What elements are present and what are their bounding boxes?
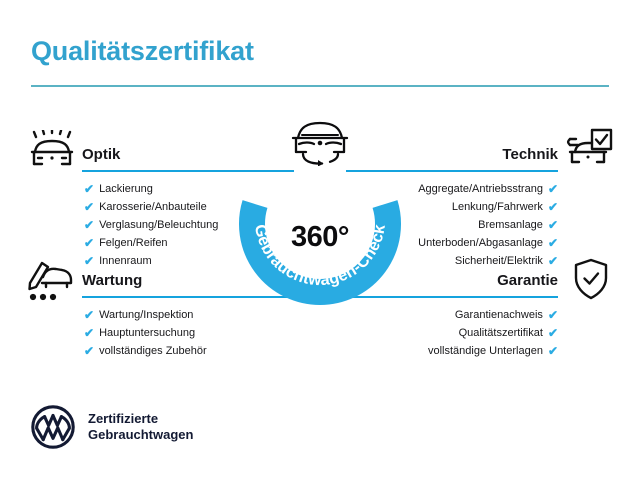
list-item: Qualitätszertifikat ✔ <box>428 324 558 342</box>
list-item: ✔ Innenraum <box>84 252 218 270</box>
volkswagen-lockup: Zertifizierte Gebrauchtwagen <box>31 405 193 449</box>
check-icon: ✔ <box>548 237 558 249</box>
list-item-label: Innenraum <box>99 255 152 267</box>
list-item-label: Lackierung <box>99 183 153 195</box>
list-item: Sicherheit/Elektrik ✔ <box>418 252 558 270</box>
list-item: ✔ Hauptuntersuchung <box>84 324 207 342</box>
section-header: Garantie <box>386 272 558 298</box>
list-item-label: Verglasung/Beleuchtung <box>99 219 218 231</box>
list-item-label: Bremsanlage <box>478 219 543 231</box>
check-icon: ✔ <box>548 201 558 213</box>
check-icon: ✔ <box>84 309 94 321</box>
check-icon: ✔ <box>84 345 94 357</box>
list-item: Garantienachweis ✔ <box>428 306 558 324</box>
list-item: Lenkung/Fahrwerk ✔ <box>418 198 558 216</box>
section-header: Optik <box>82 146 254 172</box>
section-title: Optik <box>82 146 120 163</box>
section-title: Wartung <box>82 272 142 289</box>
360-check-badge: Gebrauchtwagen-Check 360° <box>234 118 406 308</box>
section-title: Garantie <box>497 272 558 289</box>
check-icon: ✔ <box>84 219 94 231</box>
check-icon: ✔ <box>548 309 558 321</box>
list-item-label: Felgen/Reifen <box>99 237 168 249</box>
checklist: ✔ Lackierung ✔ Karosserie/Anbauteile ✔ V… <box>84 180 218 270</box>
list-item: ✔ vollständiges Zubehör <box>84 342 207 360</box>
list-item: Aggregate/Antriebsstrang ✔ <box>418 180 558 198</box>
list-item-label: Lenkung/Fahrwerk <box>452 201 543 213</box>
car-shine-icon <box>26 130 78 179</box>
section-technik: Technik Aggregate/Antriebsstrang ✔ Lenku… <box>386 146 558 172</box>
list-item-label: Unterboden/Abgasanlage <box>418 237 543 249</box>
list-item-label: Hauptuntersuchung <box>99 327 195 339</box>
section-header: Wartung <box>82 272 254 298</box>
check-icon: ✔ <box>84 201 94 213</box>
list-item: ✔ Felgen/Reifen <box>84 234 218 252</box>
list-item-label: Wartung/Inspektion <box>99 309 193 321</box>
list-item-label: Karosserie/Anbauteile <box>99 201 207 213</box>
pen-car-dots-icon <box>26 258 78 307</box>
check-icon: ✔ <box>548 345 558 357</box>
badge-center-label: 360° <box>234 221 406 254</box>
list-item: ✔ Lackierung <box>84 180 218 198</box>
section-header: Technik <box>386 146 558 172</box>
list-item-label: Qualitätszertifikat <box>459 327 543 339</box>
check-icon: ✔ <box>84 255 94 267</box>
shield-check-icon <box>572 258 610 307</box>
list-item: ✔ Karosserie/Anbauteile <box>84 198 218 216</box>
check-icon: ✔ <box>548 219 558 231</box>
check-icon: ✔ <box>84 327 94 339</box>
volkswagen-lockup-text: Zertifizierte Gebrauchtwagen <box>88 411 193 444</box>
header-divider <box>31 85 609 87</box>
check-icon: ✔ <box>84 183 94 195</box>
section-title: Technik <box>502 146 558 163</box>
list-item-label: vollständiges Zubehör <box>99 345 207 357</box>
list-item: Bremsanlage ✔ <box>418 216 558 234</box>
car-lift-checkbox-icon <box>566 128 614 177</box>
list-item: ✔ Verglasung/Beleuchtung <box>84 216 218 234</box>
check-icon: ✔ <box>548 183 558 195</box>
section-optik: Optik ✔ Lackierung ✔ Karosserie/Anbautei… <box>82 146 254 172</box>
checklist: Aggregate/Antriebsstrang ✔ Lenkung/Fahrw… <box>418 180 558 270</box>
check-icon: ✔ <box>84 237 94 249</box>
list-item: vollständige Unterlagen ✔ <box>428 342 558 360</box>
section-wartung: Wartung ✔ Wartung/Inspektion ✔ Hauptunte… <box>82 272 254 298</box>
section-garantie: Garantie Garantienachweis ✔ Qualitätszer… <box>386 272 558 298</box>
volkswagen-logo <box>31 405 75 449</box>
list-item-label: Garantienachweis <box>455 309 543 321</box>
list-item-label: Sicherheit/Elektrik <box>455 255 543 267</box>
list-item-label: vollständige Unterlagen <box>428 345 543 357</box>
list-item-label: Aggregate/Antriebsstrang <box>418 183 543 195</box>
list-item: ✔ Wartung/Inspektion <box>84 306 207 324</box>
list-item: Unterboden/Abgasanlage ✔ <box>418 234 558 252</box>
certificate-page: Qualitätszertifikat Optik ✔ Lackierung <box>0 0 640 480</box>
checklist: Garantienachweis ✔ Qualitätszertifikat ✔… <box>428 306 558 360</box>
check-icon: ✔ <box>548 327 558 339</box>
page-title: Qualitätszertifikat <box>31 36 254 67</box>
checklist: ✔ Wartung/Inspektion ✔ Hauptuntersuchung… <box>84 306 207 360</box>
check-icon: ✔ <box>548 255 558 267</box>
